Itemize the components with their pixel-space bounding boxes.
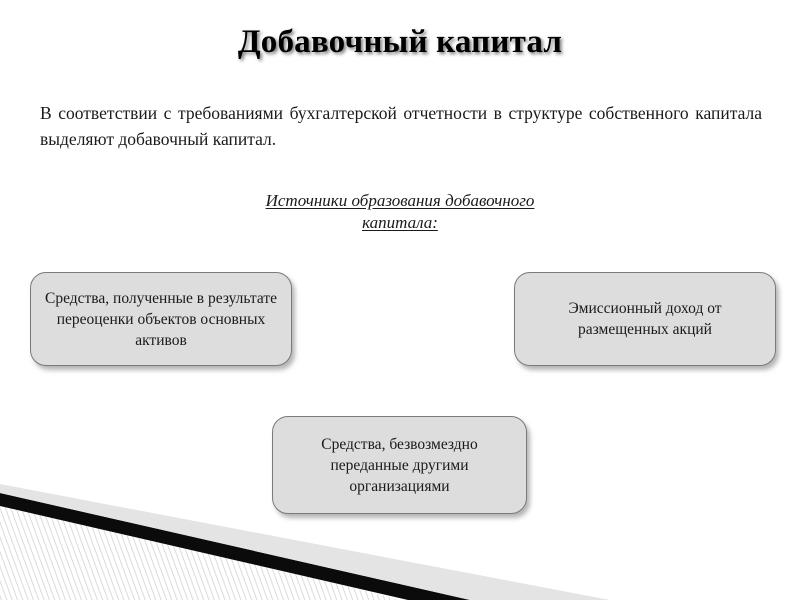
subtitle-line-1: Источники образования добавочного	[266, 191, 535, 210]
subtitle-line-2: капитала:	[362, 213, 438, 232]
source-box-revaluation-label: Средства, полученные в результате переоц…	[41, 288, 281, 351]
source-box-revaluation[interactable]: Средства, полученные в результате переоц…	[30, 272, 292, 366]
slide-canvas: Добавочный капитал В соответствии с треб…	[0, 0, 800, 600]
body-paragraph: В соответствии с требованиями бухгалтерс…	[40, 100, 762, 152]
source-box-share-premium[interactable]: Эмиссионный доход от размещенных акций	[514, 272, 776, 366]
subtitle: Источники образования добавочного капита…	[200, 190, 600, 234]
page-title: Добавочный капитал	[0, 22, 800, 62]
source-box-share-premium-label: Эмиссионный доход от размещенных акций	[525, 298, 765, 340]
source-box-gratuitous-transfer-label: Средства, безвозмездно переданные другим…	[283, 434, 516, 497]
source-box-gratuitous-transfer[interactable]: Средства, безвозмездно переданные другим…	[272, 416, 527, 514]
